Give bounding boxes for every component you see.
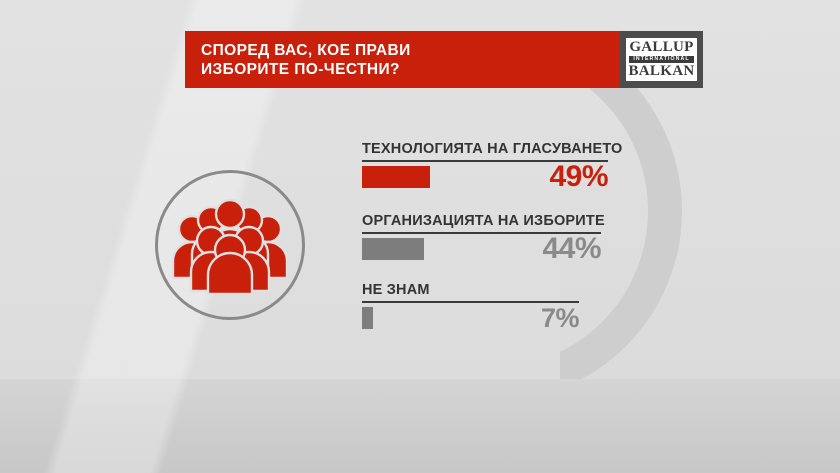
result-value: 7% — [541, 301, 579, 335]
header-title-block: СПОРЕД ВАС, КОЕ ПРАВИ ИЗБОРИТЕ ПО-ЧЕСТНИ… — [185, 31, 620, 88]
result-bar-area: 7% — [362, 303, 612, 333]
background-lower-band — [0, 379, 840, 473]
result-value: 49% — [549, 160, 608, 194]
result-bar — [362, 238, 424, 260]
result-label: ОРГАНИЗАЦИЯТА НА ИЗБОРИТЕ — [362, 212, 612, 230]
infographic-slide: СПОРЕД ВАС, КОЕ ПРАВИ ИЗБОРИТЕ ПО-ЧЕСТНИ… — [0, 0, 840, 473]
result-bar — [362, 166, 430, 188]
logo-text-gallup: GALLUP — [629, 40, 695, 55]
logo-text-balkan: BALKAN — [629, 64, 695, 79]
result-row-technology: ТЕХНОЛОГИЯТА НА ГЛАСУВАНЕТО 49% — [362, 140, 612, 196]
group-of-people-icon — [171, 195, 289, 295]
result-bar — [362, 307, 373, 329]
result-row-dont-know: НЕ ЗНАМ 7% — [362, 281, 612, 333]
result-value: 44% — [542, 232, 601, 266]
result-row-organisation: ОРГАНИЗАЦИЯТА НА ИЗБОРИТЕ 44% — [362, 212, 612, 268]
header-banner: СПОРЕД ВАС, КОЕ ПРАВИ ИЗБОРИТЕ ПО-ЧЕСТНИ… — [185, 31, 703, 88]
result-label: ТЕХНОЛОГИЯТА НА ГЛАСУВАНЕТО — [362, 140, 612, 158]
gallup-international-balkan-logo: GALLUP INTERNATIONAL BALKAN — [626, 38, 698, 81]
brand-logo-container: GALLUP INTERNATIONAL BALKAN — [620, 31, 703, 88]
page-title-line-1: СПОРЕД ВАС, КОЕ ПРАВИ — [201, 41, 620, 60]
page-title-line-2: ИЗБОРИТЕ ПО-ЧЕСТНИ? — [201, 60, 620, 79]
result-bar-area: 44% — [362, 234, 612, 268]
logo-text-international: INTERNATIONAL — [629, 56, 695, 63]
result-label: НЕ ЗНАМ — [362, 281, 612, 299]
group-of-people-icon-circle — [155, 170, 305, 320]
results-list: ТЕХНОЛОГИЯТА НА ГЛАСУВАНЕТО 49% ОРГАНИЗА… — [362, 140, 612, 333]
result-bar-area: 49% — [362, 162, 612, 196]
